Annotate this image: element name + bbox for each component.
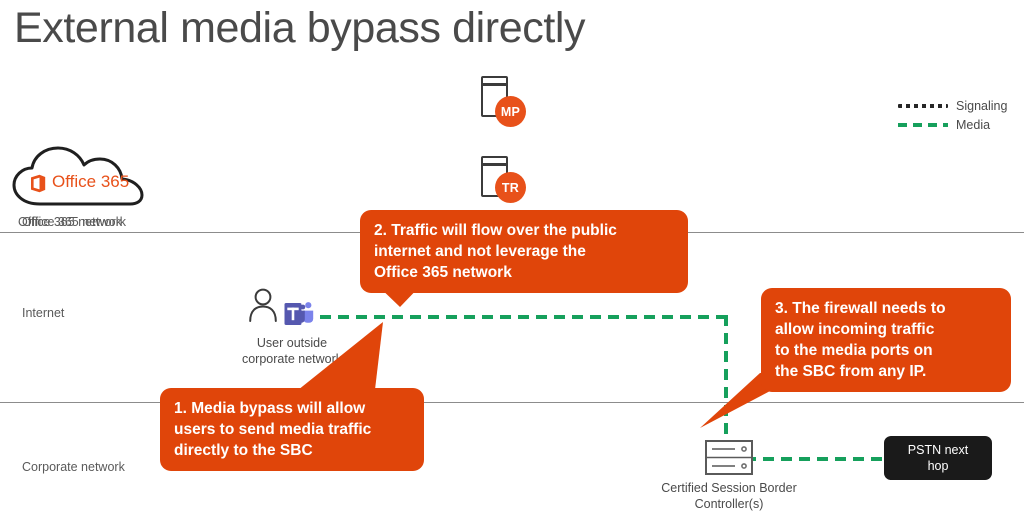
callout-1-line3: directly to the SBC	[174, 440, 410, 461]
legend-label-media: Media	[956, 118, 990, 132]
page-title: External media bypass directly	[14, 2, 585, 54]
badge-mp: MP	[495, 96, 526, 127]
sbc-caption: Certified Session Border Controller(s)	[639, 480, 819, 512]
legend: Signaling Media	[898, 96, 1007, 134]
dotted-line-icon	[898, 104, 948, 108]
cloud-caption: Office 365 network	[18, 215, 122, 229]
callout-3: 3. The firewall needs to allow incoming …	[761, 288, 1011, 392]
dashed-line-icon	[898, 123, 948, 127]
callout-1: 1. Media bypass will allow users to send…	[160, 388, 424, 471]
callout-3-line1: 3. The firewall needs to	[775, 298, 997, 319]
legend-item-media: Media	[898, 115, 1007, 134]
callout-2: 2. Traffic will flow over the public int…	[360, 210, 688, 293]
pstn-label-line2: hop	[908, 458, 968, 474]
media-line-sbc-to-pstn	[745, 457, 885, 461]
callout-3-line2: allow incoming traffic	[775, 319, 997, 340]
diagram-canvas: External media bypass directly Office 36…	[0, 0, 1024, 513]
pstn-label-line1: PSTN next	[908, 442, 968, 458]
legend-item-signaling: Signaling	[898, 96, 1007, 115]
callout-1-line1: 1. Media bypass will allow	[174, 398, 410, 419]
badge-tr: TR	[495, 172, 526, 203]
sbc-caption-line2: Controller(s)	[639, 496, 819, 512]
device-speaker-bar	[483, 163, 506, 166]
callout-1-line2: users to send media traffic	[174, 419, 410, 440]
device-speaker-bar	[483, 83, 506, 86]
callout-2-line2: internet and not leverage the	[374, 241, 674, 262]
callout-2-line1: 2. Traffic will flow over the public	[374, 220, 674, 241]
office-365-logo-text: Office 365	[52, 172, 129, 192]
sbc-caption-line1: Certified Session Border	[639, 480, 819, 496]
callout-2-line3: Office 365 network	[374, 262, 674, 283]
divider-internet-corporate	[0, 402, 1024, 403]
person-icon	[247, 288, 279, 322]
band-label-corporate: Corporate network	[22, 460, 125, 474]
media-line-user-to-sbc	[320, 315, 728, 319]
callout-3-line3: to the media ports on	[775, 340, 997, 361]
legend-label-signaling: Signaling	[956, 99, 1007, 113]
callout-3-line4: the SBC from any IP.	[775, 361, 997, 382]
office-365-logo-icon	[29, 174, 46, 193]
pstn-next-hop-node: PSTN next hop	[884, 436, 992, 480]
server-rack-icon	[705, 440, 753, 475]
band-label-internet: Internet	[22, 306, 64, 320]
